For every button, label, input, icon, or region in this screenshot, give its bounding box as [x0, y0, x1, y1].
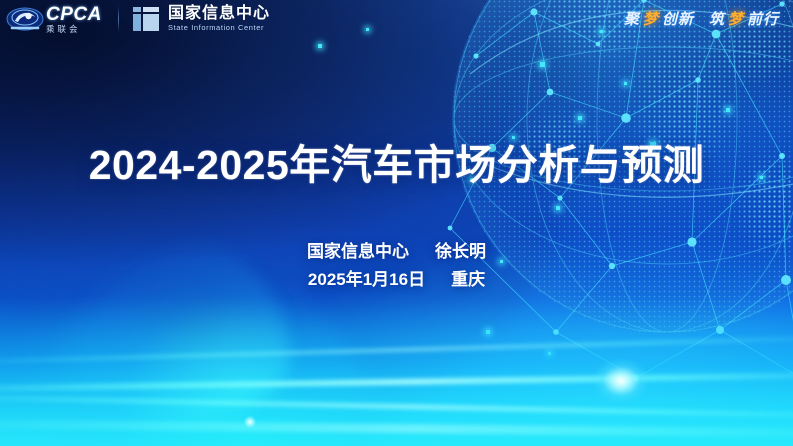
sic-logo: 国家信息中心 State Information Center — [133, 6, 270, 32]
lens-flare-icon — [242, 414, 258, 430]
spark-dot-icon — [726, 108, 730, 112]
cpca-logo: CPCA 乘联会 — [6, 2, 110, 36]
sic-chinese-label: 国家信息中心 — [168, 6, 270, 23]
presentation-location: 重庆 — [451, 270, 485, 289]
spark-dot-icon — [624, 82, 627, 85]
spark-dot-icon — [540, 62, 545, 67]
slogan-part2-a: 筑 — [709, 8, 725, 29]
slogan-part1-a: 聚 — [624, 8, 640, 29]
cpca-emblem-icon — [6, 4, 44, 34]
sic-english-label: State Information Center — [168, 24, 270, 32]
cpca-wordmark: CPCA — [46, 5, 102, 24]
presenter-org: 国家信息中心 — [307, 242, 409, 261]
page-title: 2024-2025年汽车市场分析与预测 — [0, 131, 793, 191]
slogan-part1-highlight: 梦 — [643, 8, 659, 29]
sic-block-icon — [133, 7, 159, 31]
spark-dot-icon — [318, 44, 322, 48]
cpca-text-block: CPCA 乘联会 — [46, 5, 102, 34]
date-line: 2025年1月16日重庆 — [0, 266, 793, 294]
cpca-chinese-label: 乘联会 — [46, 25, 102, 34]
presenter-block: 国家信息中心徐长明 2025年1月16日重庆 — [0, 238, 793, 294]
vertical-divider-icon — [118, 6, 119, 32]
presentation-date: 2025年1月16日 — [308, 270, 425, 289]
spark-dot-icon — [578, 116, 582, 120]
lens-flare-icon — [585, 352, 657, 410]
presentation-slide: CPCA 乘联会 国家信息中心 State Information Center… — [0, 0, 793, 446]
sic-text-block: 国家信息中心 State Information Center — [168, 6, 270, 32]
presenter-line: 国家信息中心徐长明 — [0, 238, 793, 266]
slogan-part2-highlight: 梦 — [728, 8, 744, 29]
slogan-part2-b: 前行 — [747, 8, 779, 29]
slogan-part1-b: 创新 — [662, 8, 694, 29]
slogan: 聚梦创新 筑梦前行 — [624, 8, 779, 29]
presenter-name: 徐长明 — [435, 242, 486, 261]
spark-dot-icon — [556, 206, 560, 210]
